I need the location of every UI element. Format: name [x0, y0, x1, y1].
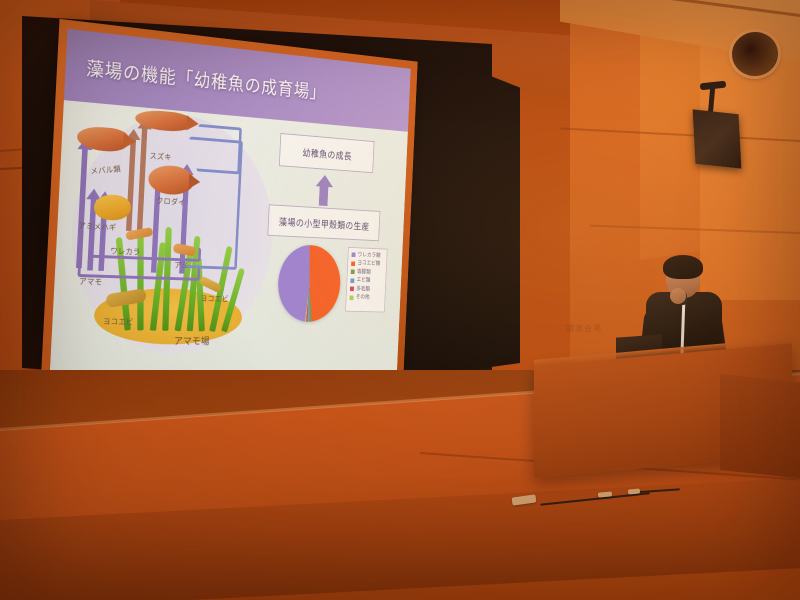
legend-swatch — [350, 278, 354, 283]
legend-swatch — [351, 270, 355, 275]
ceiling-speaker-icon — [693, 109, 742, 168]
label-kurodai: クロダイ — [156, 196, 186, 208]
label-warekara: ワレカラ — [110, 246, 141, 258]
label-suzuki: スズキ — [149, 151, 172, 163]
label-yokoebi-grass: ヨコエビ — [200, 293, 229, 304]
textbox-crustacean-production: 藻場の小型甲殻類の生産 — [267, 204, 380, 241]
podium-side-panel — [720, 374, 800, 478]
textbox-crustacean-production-label: 藻場の小型甲殻類の生産 — [279, 214, 370, 233]
legend-label: その他 — [356, 295, 370, 301]
legend-label: 等脚類 — [357, 270, 371, 276]
label-amimehagi: アミメハギ — [78, 220, 117, 233]
legend-swatch — [350, 295, 354, 300]
upward-arrow — [319, 184, 329, 206]
legend-swatch — [352, 253, 356, 258]
legend-label: ワレカラ類 — [358, 252, 381, 258]
label-amamo: アマモ — [79, 276, 103, 288]
legend-item: その他 — [349, 293, 381, 302]
lecture-hall-scene: 藻場の機能「幼稚魚の成育場」 — [0, 0, 800, 600]
presenter-hair — [663, 255, 703, 279]
stage-curtain-right — [400, 40, 520, 380]
slide-body: スズキ メバル類 クロダイ アミメハギ ワレカラ アミ アマモ ヨコエビ ヨコエ… — [49, 100, 407, 379]
cable-tape — [628, 488, 640, 494]
legend-label: ヨコエビ類 — [357, 261, 380, 267]
pie-chart-legend: ワレカラ類 ヨコエビ類 等脚類 エビ類 多毛類 その他 — [345, 247, 388, 313]
slide-title: 藻場の機能「幼稚魚の成育場」 — [65, 51, 326, 104]
legend-label: エビ類 — [356, 278, 370, 284]
wall-sign: 講演会場 — [566, 322, 624, 334]
textbox-juvenile-growth-label: 幼稚魚の成長 — [302, 145, 352, 163]
pie-chart — [276, 244, 342, 323]
label-ami: アミ — [174, 260, 189, 271]
label-yokoebi-bed: ヨコエビ — [103, 316, 134, 327]
textbox-juvenile-growth: 幼稚魚の成長 — [279, 133, 375, 173]
screen-frame: 藻場の機能「幼稚魚の成育場」 — [40, 19, 417, 388]
wall-sign-text: 講演会場 — [566, 323, 602, 334]
label-amamoba: アマモ場 — [174, 333, 210, 348]
legend-label: 多毛類 — [356, 287, 370, 293]
legend-swatch — [350, 287, 354, 292]
presentation-slide: 藻場の機能「幼稚魚の成育場」 — [49, 29, 410, 379]
presenter-hand — [670, 288, 686, 304]
food-web-return-pipe — [196, 124, 242, 174]
projection-screen[interactable]: 藻場の機能「幼稚魚の成育場」 — [40, 19, 417, 388]
legend-swatch — [351, 261, 355, 266]
